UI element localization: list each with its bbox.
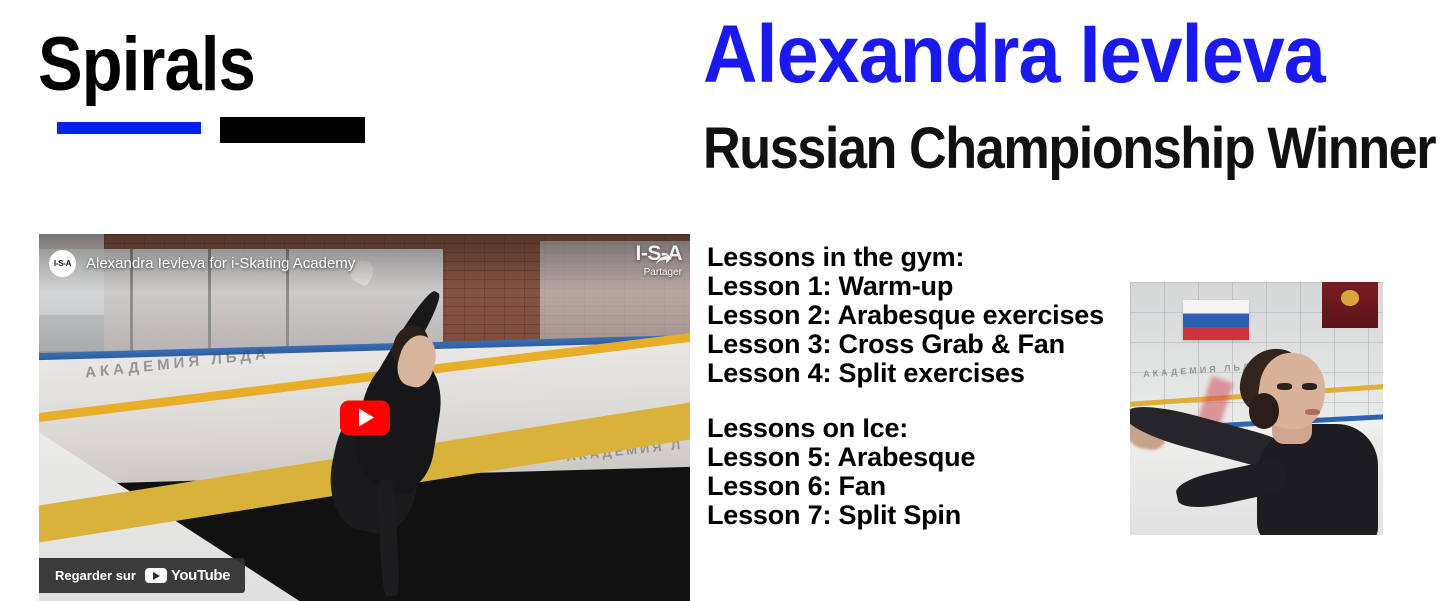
athlete-photo: АКАДЕМИЯ ЛЬДА <box>1130 282 1383 535</box>
share-button[interactable]: Partager <box>644 250 682 278</box>
video-player[interactable]: АКАДЕМИЯ ЛЬДА АКАДЕМИЯ Л I-S-A Alexandra… <box>39 234 690 601</box>
lesson-item: Lesson 6: Fan <box>707 472 1107 501</box>
youtube-wordmark: YouTube <box>171 567 230 584</box>
video-title-bar: I-S-A Alexandra Ievleva for i-Skating Ac… <box>39 234 690 292</box>
page-title: Spirals <box>38 20 255 110</box>
athlete-heading-block: Alexandra Ievleva Russian Championship W… <box>703 8 1445 182</box>
video-title[interactable]: Alexandra Ievleva for i-Skating Academy <box>86 255 355 272</box>
play-triangle <box>359 409 374 427</box>
lessons-gym-heading: Lessons in the gym: <box>707 243 1107 272</box>
lesson-item: Lesson 2: Arabesque exercises <box>707 301 1107 330</box>
accent-bar-black <box>220 117 365 143</box>
athlete-subtitle: Russian Championship Winner <box>703 116 1371 182</box>
youtube-logo-icon: YouTube <box>145 567 230 584</box>
accent-bar-blue <box>57 122 201 134</box>
lessons-ice-group: Lessons on Ice: Lesson 5: Arabesque Less… <box>707 414 1107 530</box>
lesson-item: Lesson 4: Split exercises <box>707 359 1107 388</box>
channel-avatar[interactable]: I-S-A <box>49 250 76 277</box>
lessons-ice-heading: Lessons on Ice: <box>707 414 1107 443</box>
russian-flag-icon <box>1183 300 1249 340</box>
share-label: Partager <box>644 267 682 278</box>
photo-skater-hair-bun <box>1249 393 1279 428</box>
lesson-item: Lesson 5: Arabesque <box>707 443 1107 472</box>
photo-skater-lips <box>1305 409 1320 415</box>
photo-banner-emblem <box>1341 290 1359 305</box>
watch-on-youtube-button[interactable]: Regarder sur YouTube <box>39 558 245 593</box>
lessons-gym-group: Lessons in the gym: Lesson 1: Warm-up Le… <box>707 243 1107 388</box>
lesson-item: Lesson 1: Warm-up <box>707 272 1107 301</box>
lesson-item: Lesson 7: Split Spin <box>707 501 1107 530</box>
watch-label: Regarder sur <box>55 568 136 583</box>
lessons-panel: Lessons in the gym: Lesson 1: Warm-up Le… <box>707 243 1107 556</box>
skater-figure <box>306 267 475 590</box>
photo-skater-eye <box>1277 383 1292 390</box>
photo-banner <box>1322 282 1378 328</box>
photo-skater-eye <box>1302 383 1317 390</box>
lesson-item: Lesson 3: Cross Grab & Fan <box>707 330 1107 359</box>
youtube-play-icon[interactable] <box>340 400 390 435</box>
athlete-name: Alexandra Ievleva <box>703 8 1386 102</box>
